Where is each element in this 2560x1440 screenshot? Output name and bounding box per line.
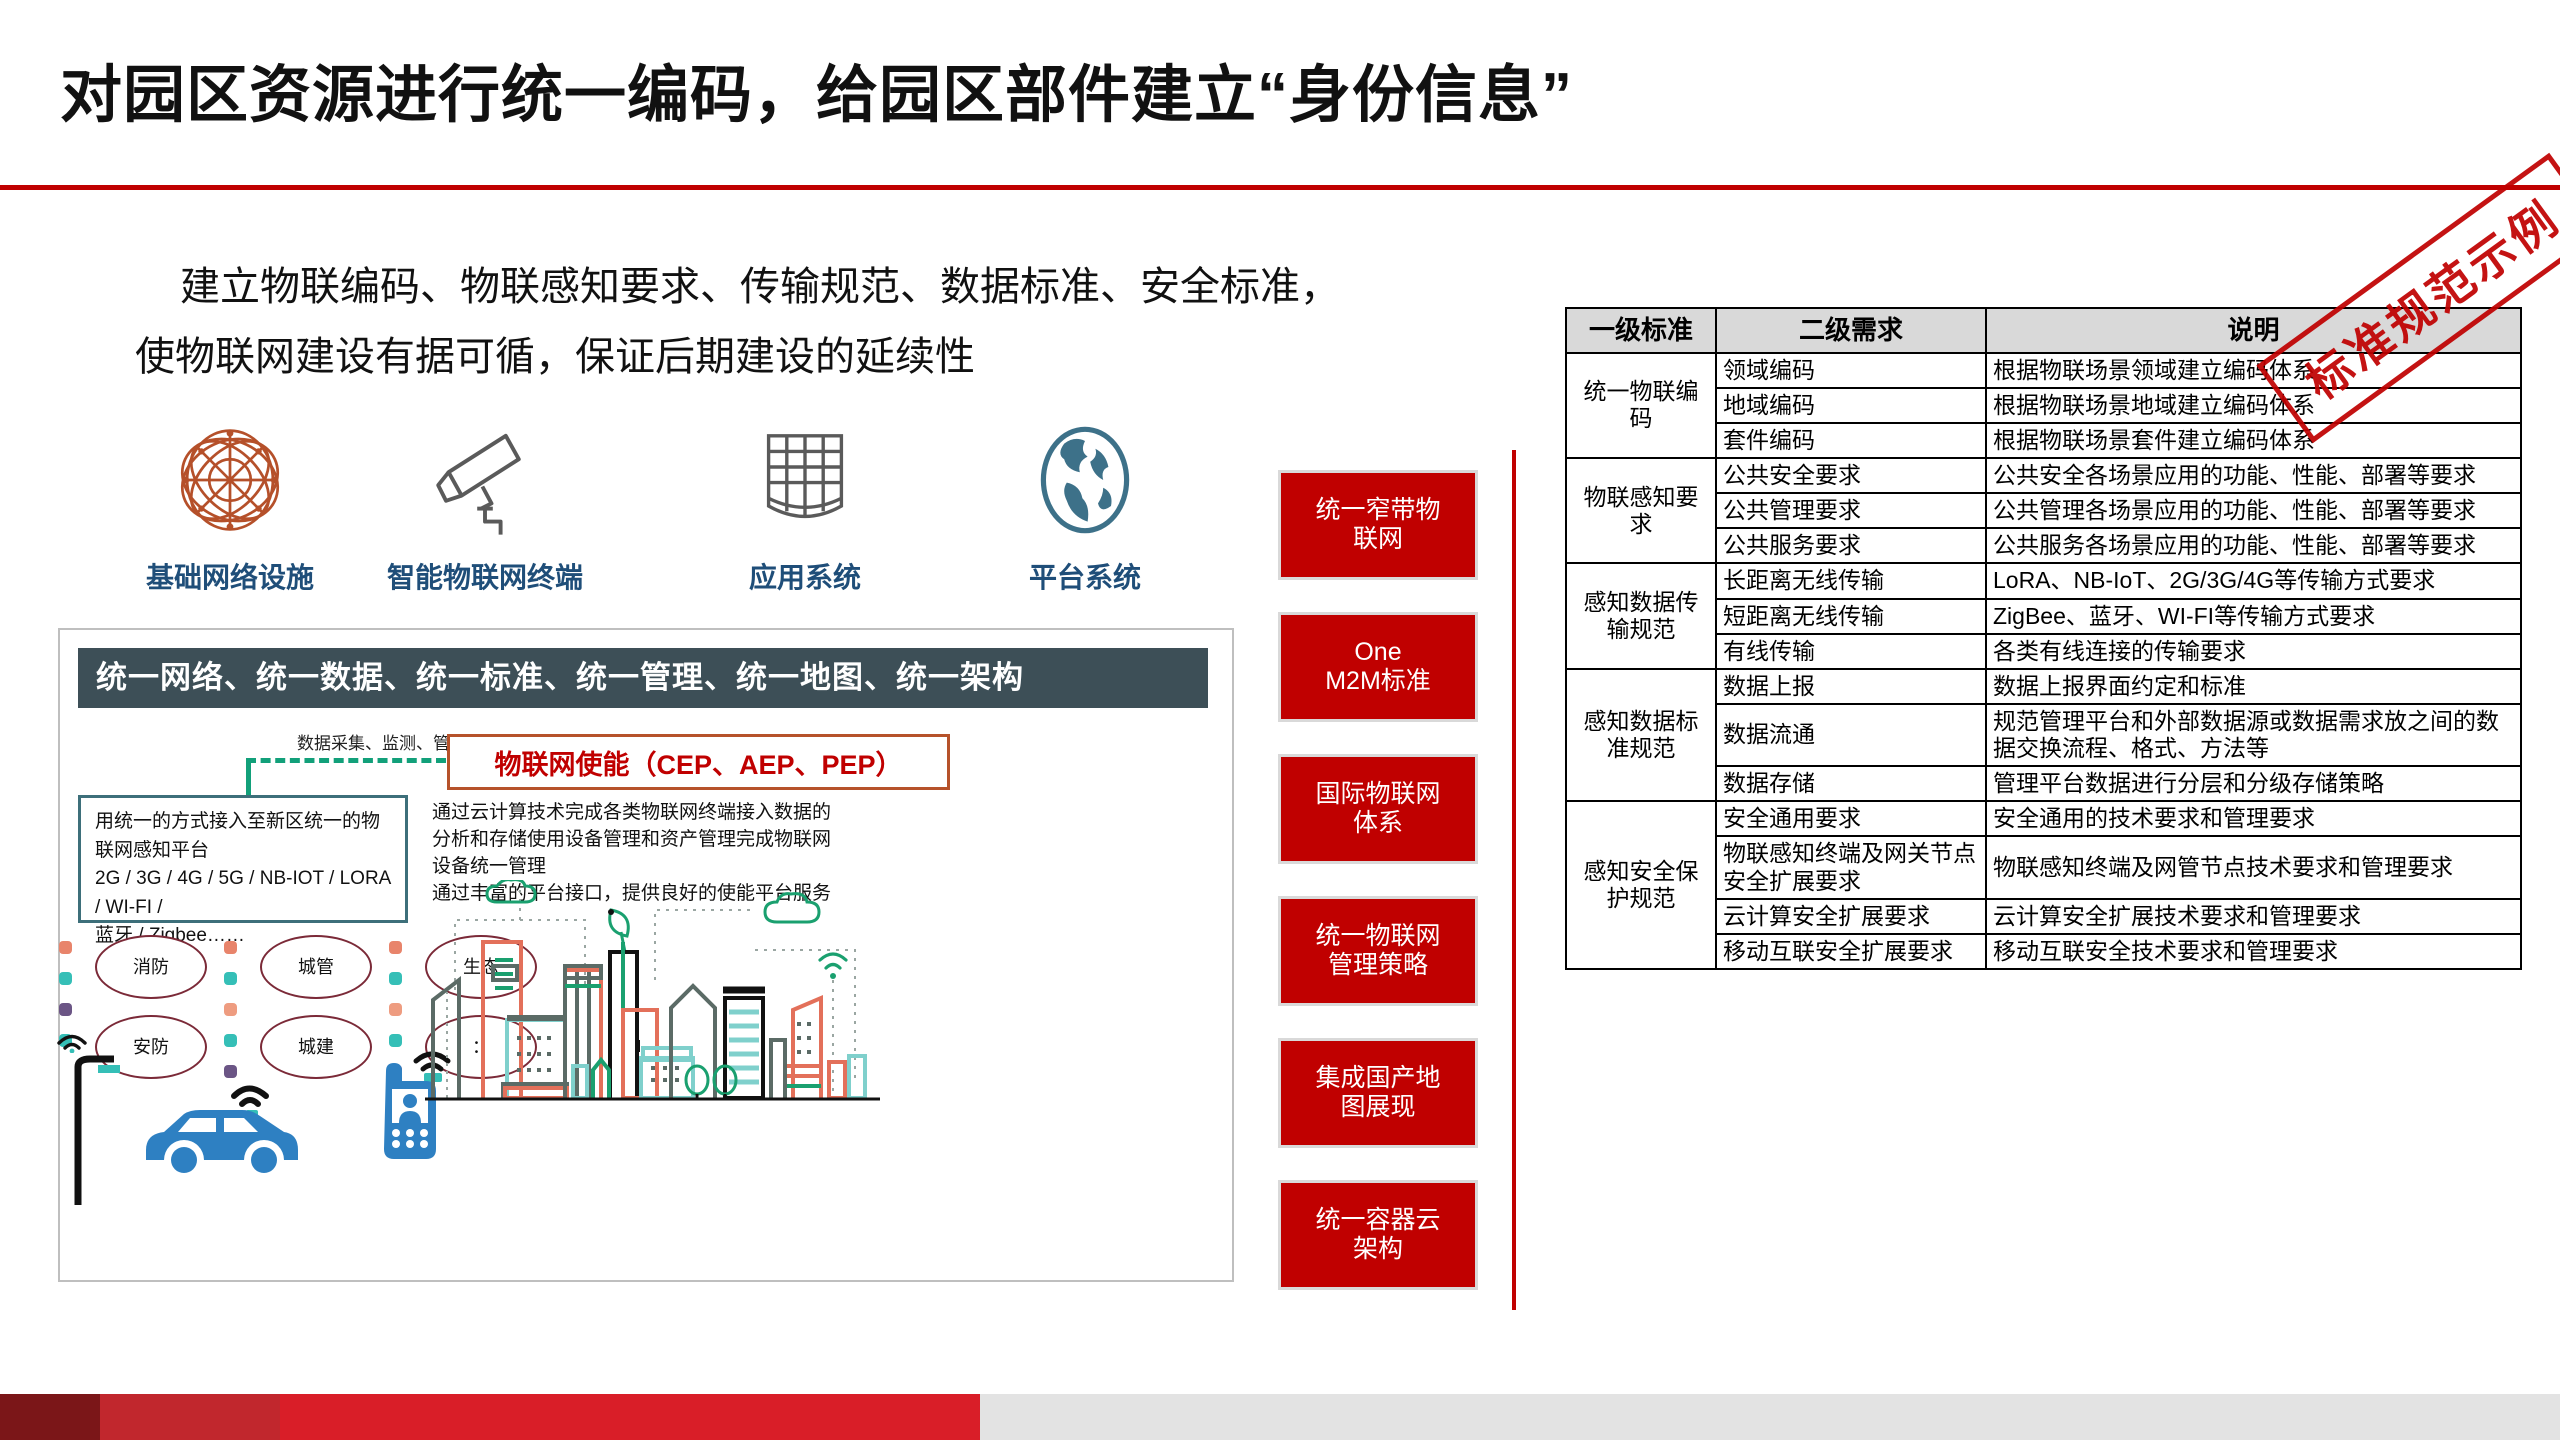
connector-dashed-line [246,758,446,763]
standards-table-wrapper: 一级标准 二级需求 说明 统一物联编码 领域编码 根据物联场景领域建立编码体系 … [1565,307,2520,970]
table-description-cell: 规范管理平台和外部数据源或数据需求放之间的数据交换流程、格式、方法等 [1986,704,2521,766]
table-description-cell: 公共服务各场景应用的功能、性能、部署等要求 [1986,528,2521,563]
access-method-box: 用统一的方式接入至新区统一的物联网感知平台 2G / 3G / 4G / 5G … [78,795,408,923]
footer-segment-mid-red [100,1394,280,1440]
capability-item-terminal: 智能物联网终端 [355,410,615,596]
button-line-1: 统一容器云 [1315,1206,1440,1236]
table-description-cell: 各类有线连接的传输要求 [1986,634,2521,669]
domain-ellipse: 城管 [260,935,372,999]
table-requirement-cell: 套件编码 [1716,423,1986,458]
footer-segment-bright-red [280,1394,980,1440]
domain-label: 城管 [298,958,334,977]
architecture-panel: 统一网络、统一数据、统一标准、统一管理、统一地图、统一架构 数据采集、监测、管理… [58,628,1234,1282]
table-requirement-cell: 数据上报 [1716,669,1986,704]
table-description-cell: 根据物联场景地域建立编码体系 [1986,388,2521,423]
capability-label: 应用系统 [675,556,935,596]
table-requirement-cell: 领域编码 [1716,353,1986,388]
iot-enabling-box: 物联网使能（CEP、AEP、PEP） [447,734,950,790]
title-divider [0,185,2560,190]
dot-teal [389,972,402,985]
dot-orange [224,941,237,954]
connected-car-icon [138,1070,308,1185]
button-line-1: 集成国产地 [1315,1064,1440,1094]
standards-table: 一级标准 二级需求 说明 统一物联编码 领域编码 根据物联场景领域建立编码体系 … [1565,307,2522,970]
table-requirement-cell: 云计算安全扩展要求 [1716,899,1986,934]
footer-segment-gray [980,1394,2560,1440]
table-description-cell: 数据上报界面约定和标准 [1986,669,2521,704]
domain-group-2: 城管 城建 [260,935,372,1079]
table-requirement-cell: 公共安全要求 [1716,458,1986,493]
standard-button-narrowband-iot[interactable]: 统一窄带物 联网 [1278,470,1478,580]
dot-teal [224,972,237,985]
table-description-cell: 根据物联场景套件建立编码体系 [1986,423,2521,458]
capability-item-platform: 平台系统 [955,410,1215,596]
table-requirement-cell: 物联感知终端及网关节点安全扩展要求 [1716,836,1986,898]
footer-segment-dark-red [0,1394,100,1440]
table-requirement-cell: 安全通用要求 [1716,801,1986,836]
cloud-line-2: 分析和存储使用设备管理和资产管理完成物联网 [432,827,962,854]
button-line-2: 体系 [1315,809,1440,839]
dot-salmon [389,1003,402,1016]
table-row: 物联感知要求 公共安全要求 公共安全各场景应用的功能、性能、部署等要求 [1566,458,2521,493]
dot-orange [59,941,72,954]
button-line-1: One [1325,638,1431,668]
table-category-cell: 感知安全保护规范 [1566,801,1716,969]
button-line-1: 国际物联网 [1315,780,1440,810]
access-line-1: 用统一的方式接入至新区统一的物联网感知平台 [95,808,391,865]
table-header-cell: 二级需求 [1716,308,1986,353]
table-requirement-cell: 长距离无线传输 [1716,563,1986,598]
dot-purple [59,1003,72,1016]
table-category-cell: 感知数据传输规范 [1566,563,1716,668]
table-requirement-cell: 数据流通 [1716,704,1986,766]
street-lamp-icon [68,1055,128,1210]
dot-orange [389,941,402,954]
wifi-icon [55,1031,89,1058]
table-description-cell: LoRA、NB-IoT、2G/3G/4G等传输方式要求 [1986,563,2521,598]
table-header-cell: 一级标准 [1566,308,1716,353]
smart-city-illustration [425,880,985,1175]
button-line-2: 架构 [1315,1235,1440,1265]
button-line-1: 统一窄带物 [1315,496,1440,526]
standards-button-column: 统一窄带物 联网 One M2M标准 国际物联网 体系 统一物联网 管理策略 集 [1278,470,1478,1322]
table-description-cell: 公共安全各场景应用的功能、性能、部署等要求 [1986,458,2521,493]
table-category-cell: 感知数据标准规范 [1566,669,1716,802]
capability-label: 智能物联网终端 [355,556,615,596]
capability-item-application: 应用系统 [675,410,935,596]
standard-button-domestic-map[interactable]: 集成国产地 图展现 [1278,1038,1478,1148]
button-line-1: 统一物联网 [1315,922,1440,952]
table-description-cell: 移动互联安全技术要求和管理要求 [1986,934,2521,969]
capability-label: 平台系统 [955,556,1215,596]
page-title: 对园区资源进行统一编码，给园区部件建立“身份信息” [60,62,2360,130]
table-row: 感知安全保护规范 安全通用要求 安全通用的技术要求和管理要求 [1566,801,2521,836]
brain-network-icon [100,410,360,550]
table-requirement-cell: 移动互联安全扩展要求 [1716,934,1986,969]
table-requirement-cell: 地域编码 [1716,388,1986,423]
table-description-cell: 云计算安全扩展技术要求和管理要求 [1986,899,2521,934]
table-description-cell: ZigBee、蓝牙、WI-FI等传输方式要求 [1986,599,2521,634]
domain-label: 安防 [133,1038,169,1057]
table-description-cell: 根据物联场景领域建立编码体系 [1986,353,2521,388]
access-line-2: 2G / 3G / 4G / 5G / NB-IOT / LORA / WI-F… [95,865,391,922]
domain-label: 城建 [298,1038,334,1057]
connector-vertical-line [246,758,251,798]
intro-line-1: 建立物联编码、物联感知要求、传输规范、数据标准、安全标准， [180,265,1340,309]
cloud-line-1: 通过云计算技术完成各类物联网终端接入数据的 [432,800,962,827]
capability-label: 基础网络设施 [100,556,360,596]
table-description-cell: 安全通用的技术要求和管理要求 [1986,801,2521,836]
table-requirement-cell: 公共管理要求 [1716,493,1986,528]
dot-teal [224,1034,237,1047]
slide-root: 对园区资源进行统一编码，给园区部件建立“身份信息” 建立物联编码、物联感知要求、… [0,0,2560,1440]
globe-icon [955,410,1215,550]
table-requirement-cell: 公共服务要求 [1716,528,1986,563]
button-line-2: M2M标准 [1325,667,1431,697]
domain-label: 消防 [133,958,169,977]
button-line-2: 联网 [1315,525,1440,555]
table-description-cell: 物联感知终端及网管节点技术要求和管理要求 [1986,836,2521,898]
cloud-line-3: 设备统一管理 [432,854,962,881]
table-row: 感知数据传输规范 长距离无线传输 LoRA、NB-IoT、2G/3G/4G等传输… [1566,563,2521,598]
button-line-2: 图展现 [1315,1093,1440,1123]
domain-ellipse: 消防 [95,935,207,999]
table-requirement-cell: 有线传输 [1716,634,1986,669]
button-line-2: 管理策略 [1315,951,1440,981]
vertical-divider [1512,450,1516,1310]
table-category-cell: 统一物联编码 [1566,353,1716,458]
table-description-cell: 公共管理各场景应用的功能、性能、部署等要求 [1986,493,2521,528]
table-requirement-cell: 数据存储 [1716,766,1986,801]
standard-button-international-iot[interactable]: 国际物联网 体系 [1278,754,1478,864]
dot-teal [59,972,72,985]
panel-header: 统一网络、统一数据、统一标准、统一管理、统一地图、统一架构 [78,648,1208,708]
cctv-camera-icon [355,410,615,550]
capability-icon-row: 基础网络设施 智能物联网终端 [100,410,1250,610]
intro-paragraph: 建立物联编码、物联感知要求、传输规范、数据标准、安全标准， 使物联网建设有据可循… [180,252,1520,392]
footer-bar [0,1394,2560,1440]
table-requirement-cell: 短距离无线传输 [1716,599,1986,634]
table-row: 感知数据标准规范 数据上报 数据上报界面约定和标准 [1566,669,2521,704]
dot-salmon [224,1003,237,1016]
connector-label: 数据采集、监测、管理 [297,729,467,754]
table-description-cell: 管理平台数据进行分层和分级存储策略 [1986,766,2521,801]
capability-item-network: 基础网络设施 [100,410,360,596]
table-category-cell: 物联感知要求 [1566,458,1716,563]
standard-button-onem2m[interactable]: One M2M标准 [1278,612,1478,722]
intro-line-2: 使物联网建设有据可循，保证后期建设的延续性 [135,322,1520,392]
standard-button-iot-management[interactable]: 统一物联网 管理策略 [1278,896,1478,1006]
building-grid-icon [675,410,935,550]
standard-button-container-cloud[interactable]: 统一容器云 架构 [1278,1180,1478,1290]
